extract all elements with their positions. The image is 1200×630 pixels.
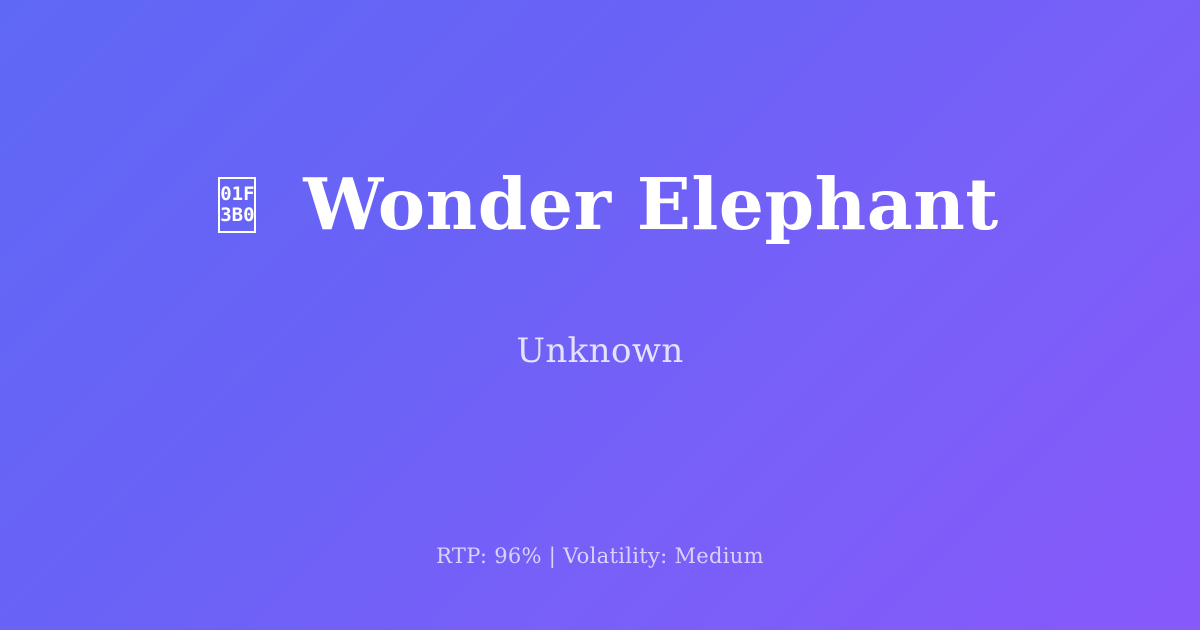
title-row: 01F 3B0 Wonder Elephant bbox=[201, 120, 998, 290]
hero-block: 01F 3B0 Wonder Elephant Unknown bbox=[0, 0, 1200, 498]
footer: RTP: 96% | Volatility: Medium bbox=[0, 544, 1200, 568]
slot-machine-icon: 01F 3B0 bbox=[201, 169, 273, 241]
missing-glyph-codepoint-line2: 3B0 bbox=[220, 205, 254, 225]
missing-glyph-box: 01F 3B0 bbox=[218, 177, 256, 233]
provider-subtitle: Unknown bbox=[516, 331, 683, 372]
page-title: Wonder Elephant bbox=[303, 167, 998, 242]
missing-glyph-codepoint-line1: 01F bbox=[220, 184, 254, 204]
game-preview-card: 01F 3B0 Wonder Elephant Unknown RTP: 96%… bbox=[0, 0, 1200, 630]
game-stats-text: RTP: 96% | Volatility: Medium bbox=[436, 544, 764, 568]
